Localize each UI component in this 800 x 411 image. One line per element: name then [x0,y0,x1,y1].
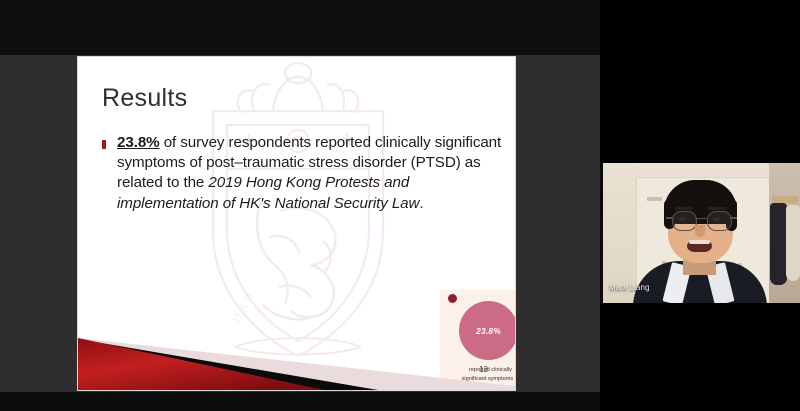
teeth [689,240,710,244]
bullet-item: 23.8% of survey respondents reported cli… [102,133,502,214]
decorative-dot-icon [448,294,457,303]
ptsd-infographic-card: 23.8% reported clinicallysignificant sym… [440,290,515,390]
eyeglasses-lens [707,211,732,231]
bullet-marker-icon [102,140,106,149]
wardrobe-handle [647,197,662,201]
eyeglasses-bridge [695,218,707,219]
eyeglasses-arm [730,217,737,219]
stage-bottom-letterbox [0,392,600,411]
participant-name-label: Mark Liang [609,283,650,292]
eyebrow [675,207,693,210]
highlight-statistic: 23.8% [117,134,160,151]
participant-video-tile[interactable]: Mark Liang [600,0,800,411]
stage-top-letterbox [0,0,600,55]
caption-bold-1: post-traumatic stress [462,385,515,390]
caption-line-2: significant symptoms of [462,376,515,382]
eyebrow [708,207,726,210]
caption-line-1: reported clinically [469,367,512,373]
page-title: Results [102,84,187,113]
bullet-text-part-2: . [419,195,423,212]
hanging-bag [786,205,800,281]
coat-rack [772,196,798,203]
pie-value-label: 23.8% [476,326,501,336]
zoom-meeting-window: HKU Results 23.8% of survey respondents … [0,0,800,411]
university-crest-watermark: HKU [183,57,413,381]
nose [695,225,705,237]
camera-feed: Mark Liang [600,163,800,303]
hanging-coat [770,203,787,285]
eyeglasses-arm [666,217,673,219]
svg-text:HKU: HKU [228,288,257,325]
eyeglasses-lens [672,211,697,231]
presentation-slide[interactable]: HKU Results 23.8% of survey respondents … [78,57,515,390]
slide-number: 13 [479,365,488,374]
bullet-text: 23.8% of survey respondents reported cli… [117,133,502,214]
pie-circle-chart: 23.8% [459,301,515,360]
shared-screen-stage[interactable]: HKU Results 23.8% of survey respondents … [0,0,600,411]
